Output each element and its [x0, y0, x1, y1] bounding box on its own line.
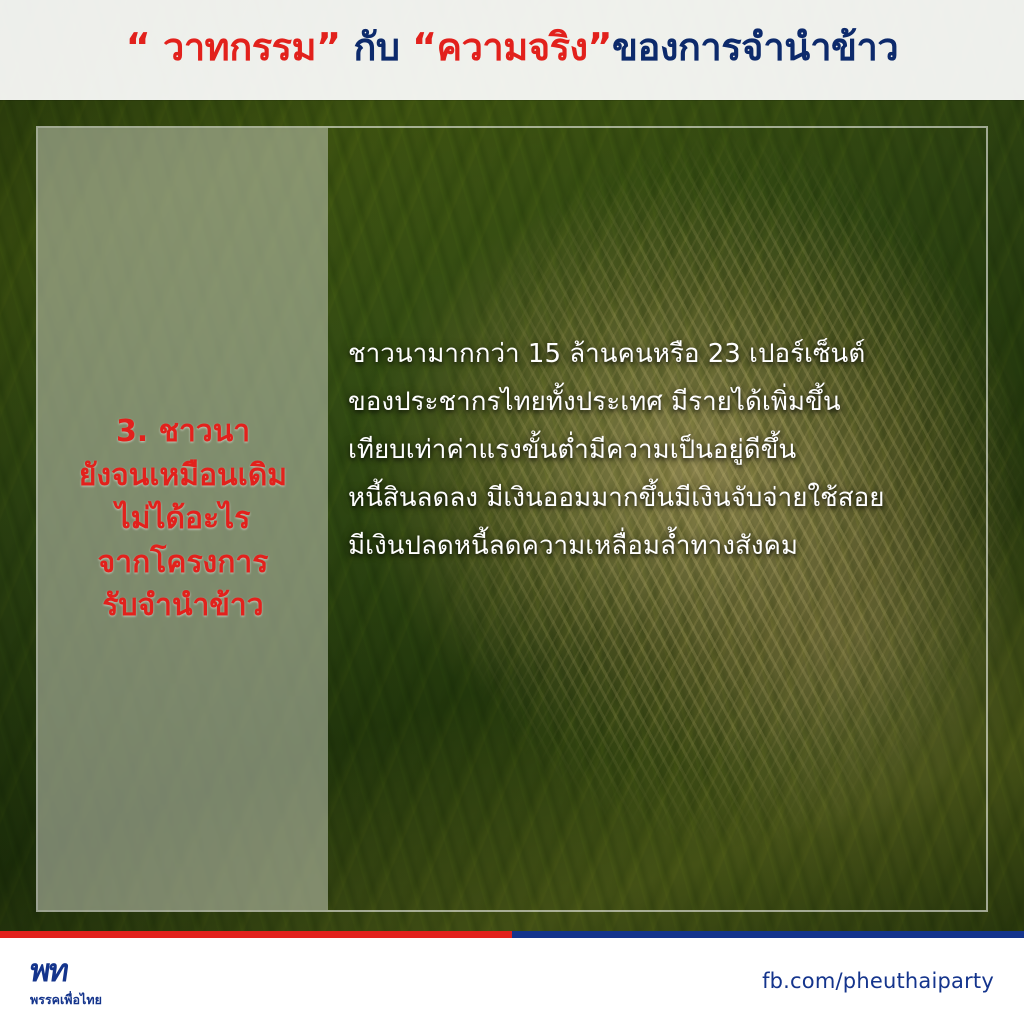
- callout-line-3: ไม่ได้อะไร: [79, 497, 287, 541]
- facebook-url-label: fb.com/pheuthaiparty: [762, 969, 994, 993]
- headline-part-5: ความจริง: [437, 25, 588, 69]
- body-line-3: เทียบเท่าค่าแรงขั้นต่ำมีความเป็นอยู่ดีขึ…: [348, 426, 968, 474]
- headline-part-3: กับ: [353, 25, 399, 69]
- body-line-4: หนี้สินลดลง มีเงินออมมากขึ้นมีเงินจับจ่า…: [348, 474, 968, 522]
- headline-part-7: ของการจำนำข้าว: [612, 25, 898, 69]
- headline-part-1: วาทกรรม: [163, 25, 316, 69]
- headline-part-0: “: [126, 25, 163, 69]
- footer-bar: พท พรรคเพื่อไทย fb.com/pheuthaiparty: [0, 938, 1024, 1024]
- page-title: “ วาทกรรม” กับ “ความจริง”ของการจำนำข้าว: [126, 28, 898, 72]
- body-paragraph: ชาวนามากกว่า 15 ล้านคนหรือ 23 เปอร์เซ็นต…: [348, 330, 968, 570]
- callout-line-5: รับจำนำข้าว: [79, 584, 287, 628]
- callout-line-1: 3. ชาวนา: [79, 410, 287, 454]
- body-line-1: ชาวนามากกว่า 15 ล้านคนหรือ 23 เปอร์เซ็นต…: [348, 330, 968, 378]
- headline-part-6: ”: [588, 25, 612, 69]
- left-callout-panel: 3. ชาวนา ยังจนเหมือนเดิม ไม่ได้อะไร จากโ…: [38, 128, 328, 910]
- header-band: “ วาทกรรม” กับ “ความจริง”ของการจำนำข้าว: [0, 0, 1024, 100]
- callout-line-4: จากโครงการ: [79, 541, 287, 585]
- brand-name-label: พรรคเพื่อไทย: [30, 994, 102, 1007]
- brand-monogram: พท: [28, 956, 104, 987]
- brand-stack: พท พรรคเพื่อไทย: [30, 956, 102, 1007]
- body-line-5: มีเงินปลดหนี้ลดความเหลื่อมล้ำทางสังคม: [348, 522, 968, 570]
- headline-part-4: “: [399, 25, 436, 69]
- party-logo: พท พรรคเพื่อไทย: [30, 956, 102, 1007]
- body-line-2: ของประชากรไทยทั้งประเทศ มีรายได้เพิ่มขึ้…: [348, 378, 968, 426]
- headline-part-2: ”: [316, 25, 353, 69]
- footer-color-rule: [0, 931, 1024, 938]
- callout-line-2: ยังจนเหมือนเดิม: [79, 454, 287, 498]
- infographic-canvas: “ วาทกรรม” กับ “ความจริง”ของการจำนำข้าว …: [0, 0, 1024, 1024]
- callout-heading: 3. ชาวนา ยังจนเหมือนเดิม ไม่ได้อะไร จากโ…: [69, 410, 297, 628]
